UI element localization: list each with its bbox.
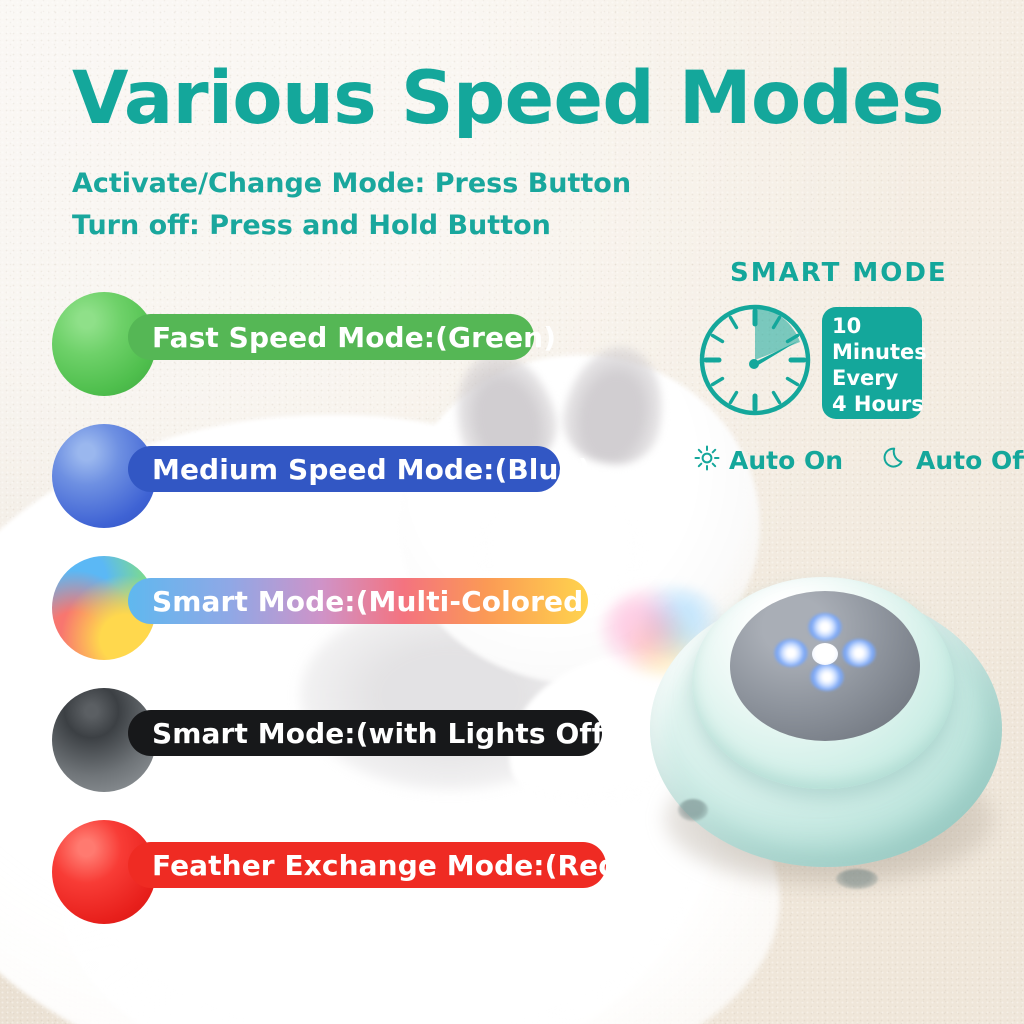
moon-icon (883, 446, 907, 474)
mode-label-smart-lights-off: Smart Mode:(with Lights Off) (128, 710, 602, 756)
auto-on-label: Auto On (729, 446, 843, 475)
mode-label-medium-speed: Medium Speed Mode:(Blue) (128, 446, 560, 492)
mode-label-feather-exchange: Feather Exchange Mode:(Red) (128, 842, 606, 888)
led-east (842, 639, 876, 667)
schedule-line-1: 10 (832, 313, 922, 339)
schedule-line-4: 4 Hours (832, 391, 922, 417)
led-south (810, 663, 844, 691)
led-west (774, 639, 808, 667)
schedule-line-2: Minutes (832, 339, 922, 365)
device-port-bottom (836, 869, 878, 889)
instruction-activate: Activate/Change Mode: Press Button (72, 168, 631, 199)
sun-icon (694, 445, 720, 475)
infographic-page: Various Speed Modes Activate/Change Mode… (0, 0, 1024, 1024)
led-north (808, 613, 842, 641)
schedule-line-3: Every (832, 365, 922, 391)
instruction-turnoff: Turn off: Press and Hold Button (72, 210, 551, 241)
mode-label-smart-multicolor: Smart Mode:(Multi-Colored) (128, 578, 588, 624)
smart-mode-heading: SMART MODE (730, 258, 948, 288)
device-top-panel (730, 591, 920, 741)
clock-icon (692, 297, 818, 423)
smart-mode-schedule-box: 10 Minutes Every 4 Hours (822, 307, 922, 419)
auto-on-off-row: Auto On Auto Off (694, 445, 1024, 475)
product-device (640, 555, 1016, 895)
mode-label-fast-speed: Fast Speed Mode:(Green) (128, 314, 534, 360)
page-title: Various Speed Modes (72, 56, 944, 141)
auto-off-label: Auto Off (916, 446, 1024, 475)
device-port-left (678, 799, 708, 821)
led-center (812, 643, 838, 665)
